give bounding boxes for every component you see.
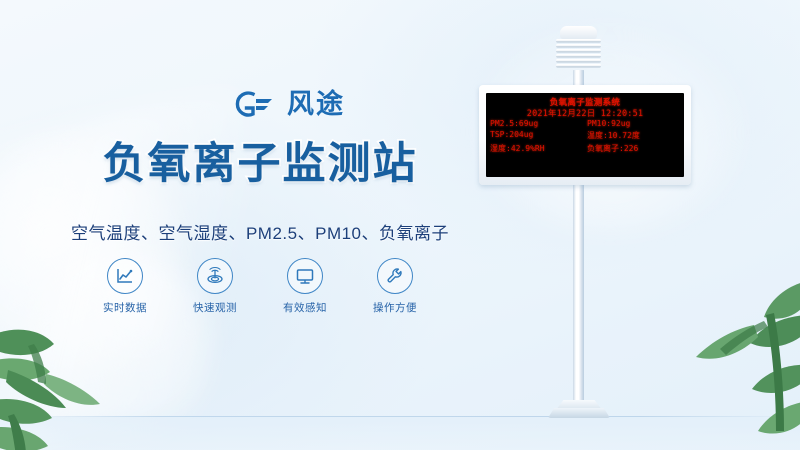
led-title: 负氧离子监测系统 [486, 96, 684, 108]
page-title: 负氧离子监测站 [0, 140, 520, 188]
brand-row: 风途 [232, 88, 345, 120]
feature-label: 有效感知 [277, 300, 333, 315]
brand-name: 风途 [287, 91, 345, 118]
feature-item-effective-sensing[interactable]: 有效感知 [277, 258, 333, 315]
feature-label: 实时数据 [97, 300, 153, 315]
led-reading-negative-ion: 负氧离子:226 [587, 143, 680, 154]
fengtu-logo-icon [232, 88, 278, 120]
feature-item-realtime-data[interactable]: 实时数据 [97, 258, 153, 315]
promo-banner: 风途 负氧离子监测站 空气温度、空气湿度、PM2.5、PM10、负氧离子 实时数… [0, 0, 800, 450]
feature-label: 操作方便 [367, 300, 423, 315]
wrench-icon [377, 258, 413, 294]
radiation-shield-sensor-icon [553, 26, 604, 78]
feature-label: 快速观测 [187, 300, 243, 315]
feature-item-fast-observation[interactable]: 快速观测 [187, 258, 243, 315]
subtitle: 空气温度、空气湿度、PM2.5、PM10、负氧离子 [0, 219, 520, 244]
led-reading-pm10: PM10:92ug [587, 119, 680, 128]
feature-item-easy-operation[interactable]: 操作方便 [367, 258, 423, 315]
pole-base-flange-icon [556, 400, 602, 410]
led-reading-temperature: 温度:10.72度 [587, 130, 680, 141]
radar-signal-icon [197, 258, 233, 294]
led-datetime: 2021年12月22日 12:20:51 [486, 107, 684, 119]
ground-shade [0, 417, 800, 450]
line-chart-icon [107, 258, 143, 294]
background-blob [480, 30, 740, 230]
feature-list: 实时数据 快速观测 有效感知 [0, 258, 520, 315]
led-reading-pm25: PM2.5:69ug [490, 119, 583, 128]
ground-line [0, 416, 800, 417]
monitor-icon [287, 258, 323, 294]
mounting-pole-icon [573, 70, 584, 415]
